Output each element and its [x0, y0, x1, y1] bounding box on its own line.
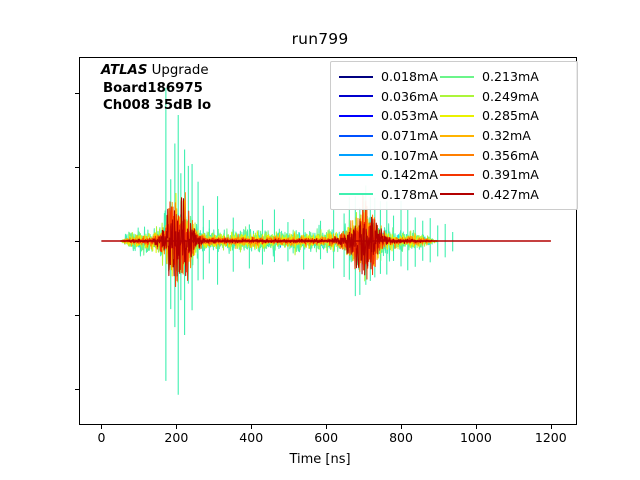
- legend-color-swatch: [339, 76, 373, 78]
- annotation-board-id: Board186975: [101, 80, 211, 98]
- legend-label: 0.053mA: [381, 108, 438, 123]
- legend-label: 0.356mA: [482, 148, 539, 163]
- legend-entry: 0.178mA: [337, 185, 438, 205]
- legend-label: 0.427mA: [482, 187, 539, 202]
- x-tick-mark: [326, 425, 327, 429]
- legend-color-swatch: [440, 154, 474, 156]
- legend-entry: 0.356mA: [438, 145, 539, 165]
- x-tick-label: 1000: [460, 430, 492, 445]
- x-tick-mark: [476, 425, 477, 429]
- legend-entry: 0.391mA: [438, 165, 539, 185]
- legend-label: 0.391mA: [482, 167, 539, 182]
- legend-label: 0.142mA: [381, 167, 438, 182]
- legend-color-swatch: [440, 76, 474, 78]
- chart-title: run799: [0, 30, 640, 48]
- x-axis-label: Time [ns]: [0, 452, 640, 467]
- x-tick-label: 1200: [535, 430, 567, 445]
- x-tick-label: 200: [164, 430, 188, 445]
- legend-entry: 0.213mA: [438, 67, 539, 87]
- x-tick-label: 0: [97, 430, 105, 445]
- legend-entry: 0.32mA: [438, 126, 539, 146]
- legend-entry: 0.071mA: [337, 126, 438, 146]
- matplotlib-figure: run799 −200−1000100200020040060080010001…: [0, 0, 640, 480]
- annotation-line-1: ATLAS Upgrade: [101, 62, 211, 80]
- legend-entry: 0.018mA: [337, 67, 438, 87]
- y-tick-mark: [75, 167, 79, 168]
- x-tick-mark: [101, 425, 102, 429]
- legend-column-right: 0.213mA0.249mA0.285mA0.32mA0.356mA0.391m…: [438, 67, 539, 204]
- annotation-channel-gain: Ch008 35dB lo: [101, 97, 211, 115]
- x-tick-mark: [251, 425, 252, 429]
- legend-color-swatch: [440, 174, 474, 176]
- x-tick-label: 800: [389, 430, 413, 445]
- legend-color-swatch: [339, 115, 373, 117]
- x-tick-label: 600: [314, 430, 338, 445]
- legend-label: 0.285mA: [482, 108, 539, 123]
- legend-color-swatch: [339, 193, 373, 195]
- legend-color-swatch: [440, 193, 474, 195]
- legend-entry: 0.427mA: [438, 185, 539, 205]
- legend-label: 0.213mA: [482, 69, 539, 84]
- x-tick-mark: [401, 425, 402, 429]
- legend-entry: 0.285mA: [438, 106, 539, 126]
- legend-label: 0.018mA: [381, 69, 438, 84]
- y-tick-mark: [75, 93, 79, 94]
- legend-color-swatch: [339, 95, 373, 97]
- atlas-annotation: ATLAS Upgrade Board186975 Ch008 35dB lo: [101, 62, 211, 115]
- legend-columns: 0.018mA0.036mA0.053mA0.071mA0.107mA0.142…: [337, 67, 571, 204]
- y-tick-mark: [75, 241, 79, 242]
- legend-box: 0.018mA0.036mA0.053mA0.071mA0.107mA0.142…: [330, 61, 578, 210]
- upgrade-label: Upgrade: [147, 63, 208, 78]
- x-tick-mark: [176, 425, 177, 429]
- legend-entry: 0.036mA: [337, 87, 438, 107]
- legend-label: 0.107mA: [381, 148, 438, 163]
- legend-label: 0.071mA: [381, 128, 438, 143]
- legend-entry: 0.107mA: [337, 145, 438, 165]
- legend-label: 0.32mA: [482, 128, 531, 143]
- y-tick-mark: [75, 315, 79, 316]
- x-tick-label: 400: [239, 430, 263, 445]
- atlas-label: ATLAS: [101, 63, 147, 78]
- legend-color-swatch: [440, 135, 474, 137]
- legend-color-swatch: [440, 115, 474, 117]
- legend-column-left: 0.018mA0.036mA0.053mA0.071mA0.107mA0.142…: [337, 67, 438, 204]
- legend-entry: 0.053mA: [337, 106, 438, 126]
- legend-color-swatch: [339, 174, 373, 176]
- legend-label: 0.036mA: [381, 89, 438, 104]
- y-tick-mark: [75, 389, 79, 390]
- x-tick-mark: [551, 425, 552, 429]
- legend-label: 0.178mA: [381, 187, 438, 202]
- legend-color-swatch: [440, 95, 474, 97]
- legend-color-swatch: [339, 135, 373, 137]
- legend-color-swatch: [339, 154, 373, 156]
- legend-entry: 0.249mA: [438, 87, 539, 107]
- legend-label: 0.249mA: [482, 89, 539, 104]
- legend-entry: 0.142mA: [337, 165, 438, 185]
